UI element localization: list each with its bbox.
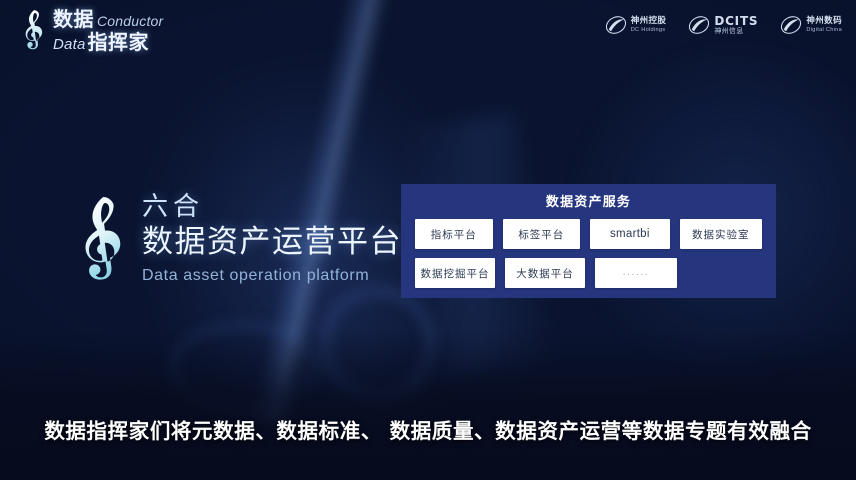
partner-1-en: 神州信息 [714, 28, 758, 36]
partner-logo-bar: 神州控股 DC Holdings DCITS 神州信息 神州数码 Digital… [605, 10, 842, 40]
partner-logo-1: DCITS 神州信息 [688, 15, 758, 36]
service-tile-row-1: 指标平台 标签平台 smartbi 数据实验室 [415, 219, 762, 249]
brand-line1-cn: 数据 [53, 9, 94, 29]
slide-caption: 数据指挥家们将元数据、数据标准、 数据质量、数据资产运营等数据专题有效融合 [0, 414, 856, 444]
service-tile-dashuju[interactable]: 大数据平台 [505, 258, 585, 288]
bottom-fade-overlay [0, 330, 856, 480]
partner-0-en: DC Holdings [631, 27, 667, 33]
slide-canvas: 数据 Conductor Data 指挥家 神州控股 DC Holdings [0, 0, 856, 480]
treble-clef-icon [72, 184, 130, 294]
swoosh-logo-icon [780, 15, 802, 35]
brand-line1-en: Conductor [97, 14, 163, 28]
swoosh-logo-icon [688, 15, 710, 35]
partner-logo-0: 神州控股 DC Holdings [605, 15, 667, 35]
treble-clef-icon [18, 8, 48, 52]
service-tile-row-2: 数据挖掘平台 大数据平台 ...... [415, 258, 762, 288]
hero-line-2: 数据资产运营平台 [142, 222, 402, 262]
partner-logo-2: 神州数码 Digital China [780, 15, 842, 35]
service-tile-shiyanshi[interactable]: 数据实验室 [680, 219, 762, 249]
service-tile-zhibiao[interactable]: 指标平台 [415, 219, 493, 249]
partner-2-en: Digital China [806, 27, 842, 33]
brand-line2-en: Data [53, 37, 86, 52]
partner-2-cn: 神州数码 [806, 17, 842, 26]
violin-curl-shape [168, 320, 318, 415]
service-panel: 数据资产服务 指标平台 标签平台 smartbi 数据实验室 数据挖掘平台 大数… [401, 184, 776, 298]
partner-1-cn: DCITS [714, 15, 758, 28]
service-tile-smartbi[interactable]: smartbi [590, 219, 670, 249]
brand-line2-cn: 指挥家 [88, 32, 150, 52]
hero-line-3: Data asset operation platform [142, 267, 402, 285]
violin-scroll-shape [318, 284, 438, 404]
service-tile-biaoqian[interactable]: 标签平台 [503, 219, 581, 249]
service-tile-wajue[interactable]: 数据挖掘平台 [415, 258, 495, 288]
hero-line-1: 六合 [142, 192, 402, 223]
swoosh-logo-icon [605, 15, 627, 35]
service-panel-title: 数据资产服务 [415, 192, 762, 214]
partner-0-cn: 神州控股 [631, 17, 667, 26]
hero-title-block: 六合 数据资产运营平台 Data asset operation platfor… [72, 182, 402, 294]
brand-logo: 数据 Conductor Data 指挥家 [18, 6, 218, 54]
service-tile-more[interactable]: ...... [595, 258, 677, 288]
